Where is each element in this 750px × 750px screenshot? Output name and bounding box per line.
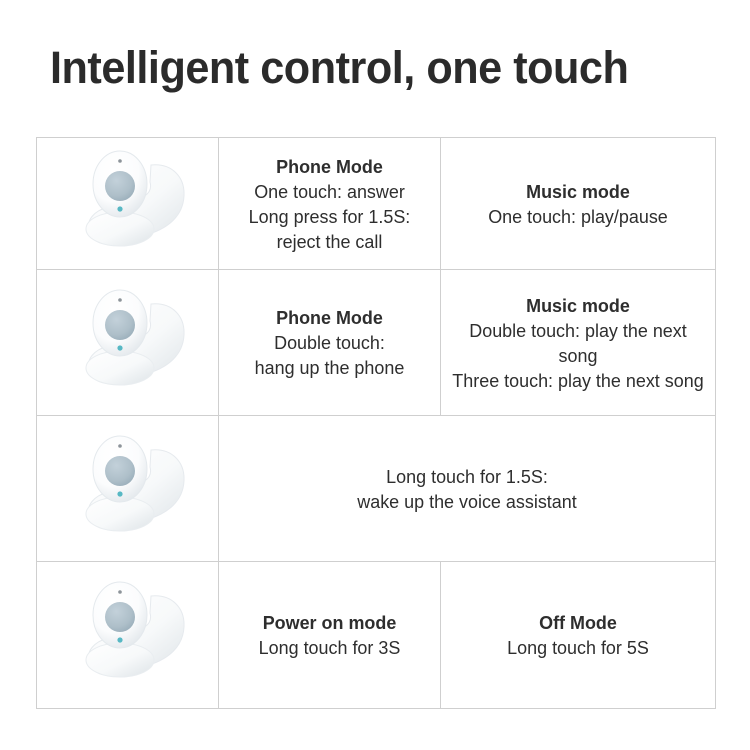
earbud-image-cell xyxy=(37,138,219,270)
cell-line: reject the call xyxy=(228,229,431,254)
page-title: Intelligent control, one touch xyxy=(50,43,684,93)
cell-line: Double touch: xyxy=(228,330,431,355)
cell-line: Three touch: play the next song xyxy=(451,368,705,393)
cell-heading: Phone Mode xyxy=(228,154,431,179)
cell-line: Long touch for 1.5S: xyxy=(232,464,701,489)
cell-line: One touch: answer xyxy=(228,179,431,204)
cell-line: Long touch for 3S xyxy=(228,635,431,660)
music-mode-cell: Music mode One touch: play/pause xyxy=(441,138,716,270)
control-spec-table: Phone Mode One touch: answer Long press … xyxy=(36,137,716,709)
table-row: Phone Mode Double touch: hang up the pho… xyxy=(37,270,716,416)
cell-heading: Phone Mode xyxy=(228,305,431,330)
cell-line: wake up the voice assistant xyxy=(232,489,701,514)
earbud-image-cell xyxy=(37,562,219,709)
earbud-icon xyxy=(48,283,208,403)
cell-text: Off Mode Long touch for 5S xyxy=(445,608,711,662)
cell-line: Long touch for 5S xyxy=(451,635,705,660)
cell-heading: Music mode xyxy=(451,293,705,318)
cell-line: Long press for 1.5S: xyxy=(228,204,431,229)
cell-line: hang up the phone xyxy=(228,355,431,380)
phone-mode-cell: Phone Mode One touch: answer Long press … xyxy=(219,138,441,270)
cell-line: One touch: play/pause xyxy=(451,204,705,229)
cell-heading: Music mode xyxy=(451,179,705,204)
earbud-image-cell xyxy=(37,416,219,562)
cell-text: Music mode One touch: play/pause xyxy=(445,177,711,231)
cell-text: Power on mode Long touch for 3S xyxy=(222,608,436,662)
earbud-icon xyxy=(48,144,208,264)
cell-text: Music mode Double touch: play the next s… xyxy=(445,291,711,395)
table-row: Long touch for 1.5S: wake up the voice a… xyxy=(37,416,716,562)
phone-mode-cell: Phone Mode Double touch: hang up the pho… xyxy=(219,270,441,416)
cell-text: Phone Mode Double touch: hang up the pho… xyxy=(222,303,436,382)
cell-line: Double touch: play the next song xyxy=(451,318,705,368)
off-mode-cell: Off Mode Long touch for 5S xyxy=(441,562,716,709)
earbud-image-cell xyxy=(37,270,219,416)
table-row: Phone Mode One touch: answer Long press … xyxy=(37,138,716,270)
table-row: Power on mode Long touch for 3S Off Mode… xyxy=(37,562,716,709)
cell-heading: Power on mode xyxy=(228,610,431,635)
voice-assistant-cell: Long touch for 1.5S: wake up the voice a… xyxy=(219,416,716,562)
earbud-icon xyxy=(48,429,208,549)
power-on-mode-cell: Power on mode Long touch for 3S xyxy=(219,562,441,709)
music-mode-cell: Music mode Double touch: play the next s… xyxy=(441,270,716,416)
cell-heading: Off Mode xyxy=(451,610,705,635)
cell-text: Long touch for 1.5S: wake up the voice a… xyxy=(226,462,707,516)
earbud-icon xyxy=(48,575,208,695)
cell-text: Phone Mode One touch: answer Long press … xyxy=(222,152,436,256)
